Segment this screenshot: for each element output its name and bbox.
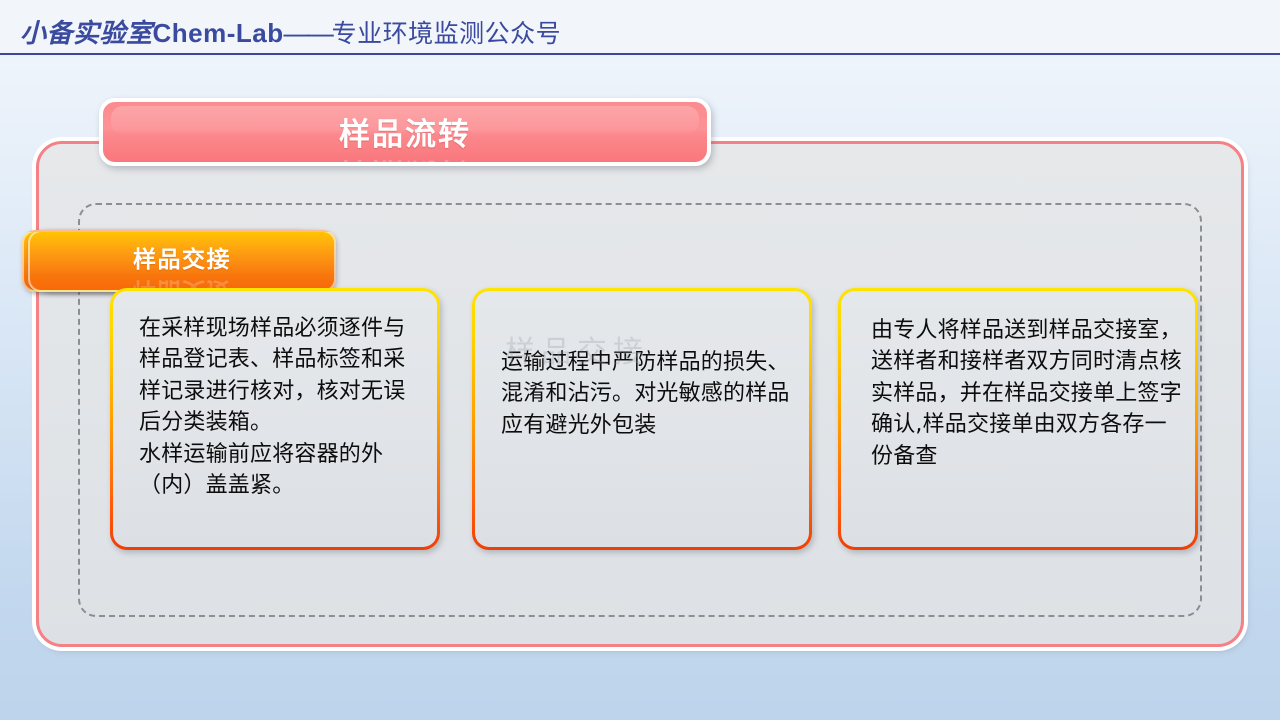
step-card-3: 由专人将样品送到样品交接室，送样者和接样者双方同时清点核实样品，并在样品交接单上… (838, 288, 1198, 550)
step-card-1-text: 在采样现场样品必须逐件与样品登记表、样品标签和采样记录进行核对，核对无误后分类装… (139, 313, 421, 502)
section-title-text: 样品流转 (103, 109, 707, 154)
brand-name-cn: 小备实验室 (20, 19, 153, 49)
step-card-2: 样品交接 运输过程中严防样品的损失、混淆和沾污。对光敏感的样品应有避光外包装 (472, 288, 812, 550)
step-card-3-text: 由专人将样品送到样品交接室，送样者和接样者双方同时清点核实样品，并在样品交接单上… (871, 315, 1185, 472)
brand-title: 小备实验室Chem-Lab——专业环境监测公众号 (20, 13, 561, 50)
step-card-2-text: 运输过程中严防样品的损失、混淆和沾污。对光敏感的样品应有避光外包装 (501, 347, 793, 441)
brand-name-latin: Chem-Lab (153, 18, 284, 48)
brand-subtitle: 专业环境监测公众号 (332, 21, 562, 48)
step-chip-3[interactable]: 样品交接 样品交接 (28, 230, 336, 292)
section-title-banner: 样品流转 样品流转 (99, 98, 711, 166)
brand-dash: —— (284, 19, 332, 48)
step-chip-3-label: 样品交接 (30, 240, 334, 274)
page-header-band: 小备实验室Chem-Lab——专业环境监测公众号 (0, 0, 1280, 55)
step-card-1: 在采样现场样品必须逐件与样品登记表、样品标签和采样记录进行核对，核对无误后分类装… (110, 288, 440, 550)
section-title-reflection: 样品流转 (103, 154, 707, 166)
